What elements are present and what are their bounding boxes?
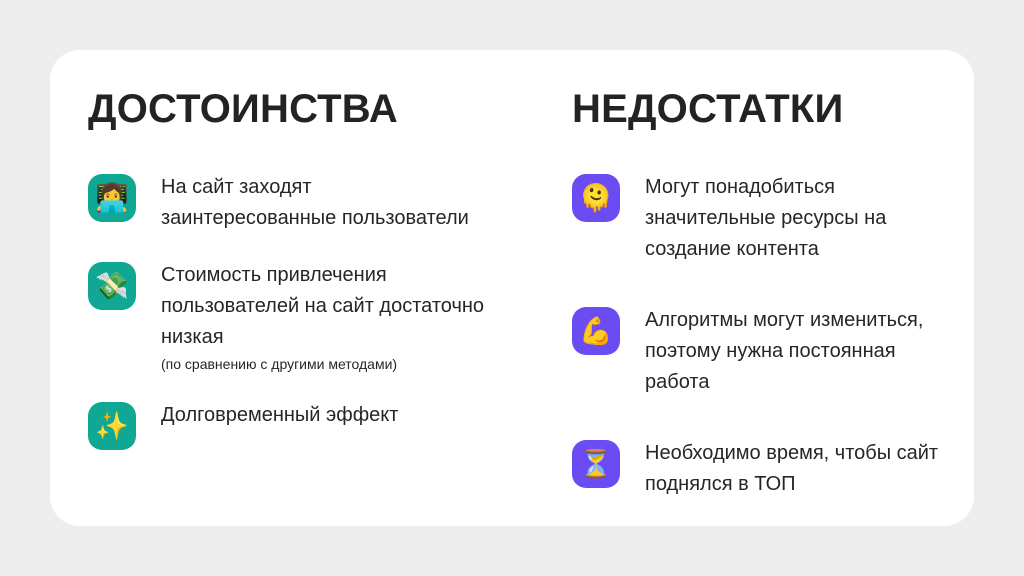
list-item-text: Алгоритмы могут измениться, поэтому нужн…: [645, 305, 955, 398]
hourglass-icon: ⏳: [572, 440, 620, 488]
list-item-text: Стоимость привлечения пользователей на с…: [161, 260, 491, 374]
slide: ДОСТОИНСТВА 👩‍💻 На сайт заходят заинтере…: [0, 0, 1024, 576]
list-item: 💪 Алгоритмы могут измениться, поэтому ну…: [572, 305, 974, 398]
melting-face-icon: 🫠: [572, 174, 620, 222]
list-item-text: Долговременный эффект: [161, 400, 398, 431]
cons-heading: НЕДОСТАТКИ: [572, 88, 974, 130]
list-item-label: Могут понадобиться значительные ресурсы …: [645, 176, 886, 260]
pros-list: 👩‍💻 На сайт заходят заинтересованные пол…: [88, 172, 517, 450]
woman-with-laptop-icon: 👩‍💻: [88, 174, 136, 222]
list-item: ⏳ Необходимо время, чтобы сайт поднялся …: [572, 438, 974, 500]
cons-column: НЕДОСТАТКИ 🫠 Могут понадобиться значител…: [517, 50, 974, 526]
content-card: ДОСТОИНСТВА 👩‍💻 На сайт заходят заинтере…: [50, 50, 974, 526]
money-with-wings-icon: 💸: [88, 262, 136, 310]
list-item: ✨ Долговременный эффект: [88, 400, 517, 450]
pros-heading: ДОСТОИНСТВА: [88, 88, 517, 130]
list-item-text: Необходимо время, чтобы сайт поднялся в …: [645, 438, 955, 500]
list-item-label: Долговременный эффект: [161, 404, 398, 426]
list-item-label: Необходимо время, чтобы сайт поднялся в …: [645, 442, 938, 495]
list-item: 💸 Стоимость привлечения пользователей на…: [88, 260, 517, 374]
list-item-label: На сайт заходят заинтересованные пользов…: [161, 176, 469, 229]
sparkles-icon: ✨: [88, 402, 136, 450]
flexed-biceps-icon: 💪: [572, 307, 620, 355]
cons-list: 🫠 Могут понадобиться значительные ресурс…: [572, 172, 974, 500]
list-item-note: (по сравнению с другими методами): [161, 354, 491, 374]
list-item-text: На сайт заходят заинтересованные пользов…: [161, 172, 491, 234]
list-item: 🫠 Могут понадобиться значительные ресурс…: [572, 172, 974, 265]
list-item-label: Стоимость привлечения пользователей на с…: [161, 264, 484, 348]
list-item-text: Могут понадобиться значительные ресурсы …: [645, 172, 955, 265]
pros-column: ДОСТОИНСТВА 👩‍💻 На сайт заходят заинтере…: [50, 50, 517, 526]
list-item: 👩‍💻 На сайт заходят заинтересованные пол…: [88, 172, 517, 234]
comparison-columns: ДОСТОИНСТВА 👩‍💻 На сайт заходят заинтере…: [50, 50, 974, 526]
list-item-label: Алгоритмы могут измениться, поэтому нужн…: [645, 309, 923, 393]
